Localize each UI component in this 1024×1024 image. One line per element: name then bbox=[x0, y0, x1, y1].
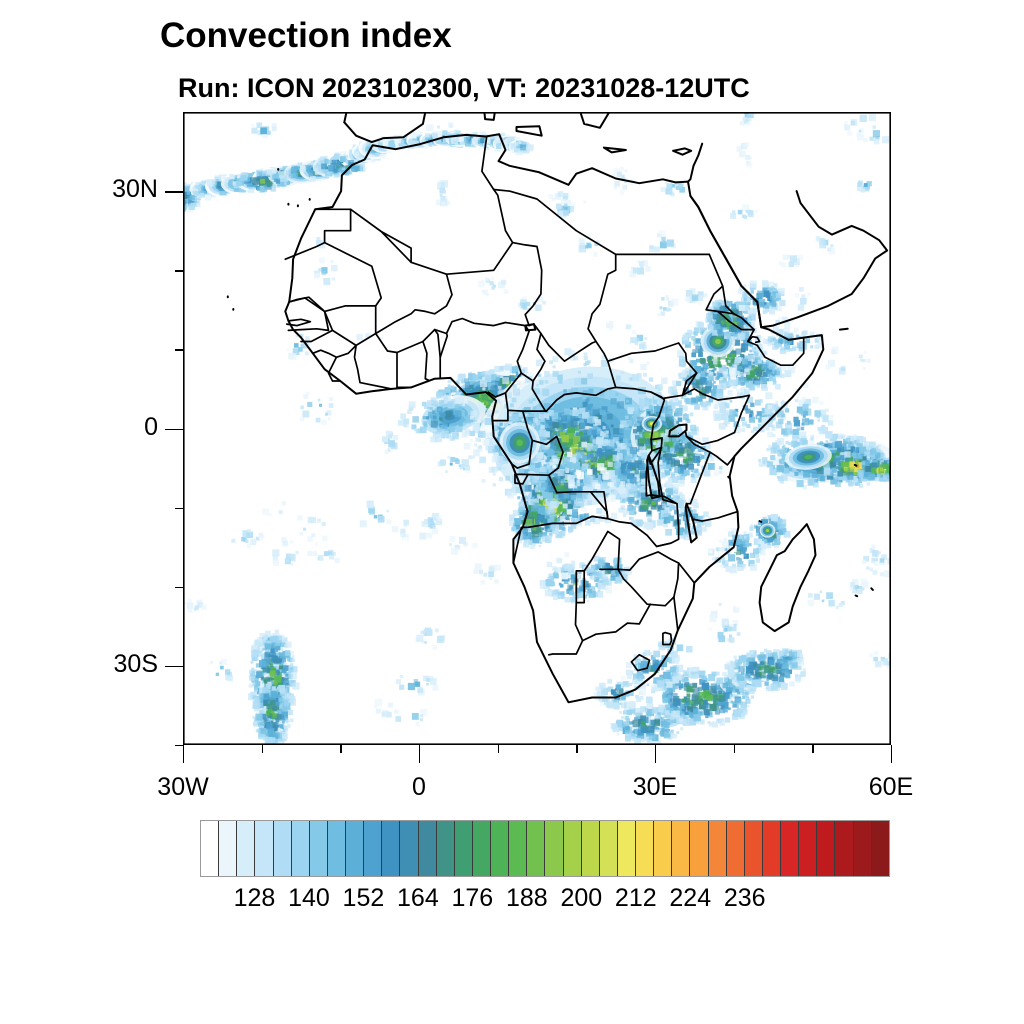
country-border bbox=[513, 243, 542, 334]
y-axis-label-30S: 30S bbox=[28, 650, 158, 679]
x-axis-label-60E: 60E bbox=[831, 773, 951, 802]
x-tick bbox=[655, 745, 656, 763]
country-border bbox=[435, 319, 526, 334]
country-border bbox=[355, 345, 392, 389]
colorbar-cell-36 bbox=[854, 821, 872, 876]
colorbar-cell-16 bbox=[491, 821, 509, 876]
colorbar-cell-26 bbox=[672, 821, 690, 876]
colorbar-cell-37 bbox=[872, 821, 889, 876]
coastline bbox=[604, 148, 626, 153]
map-canvas bbox=[183, 112, 891, 745]
colorbar-tick-200: 200 bbox=[560, 884, 602, 913]
y-tick bbox=[165, 429, 183, 430]
y-tick bbox=[175, 270, 183, 271]
x-axis-label-30E: 30E bbox=[595, 773, 715, 802]
colorbar-cell-22 bbox=[600, 821, 618, 876]
colorbar-tick-212: 212 bbox=[615, 884, 657, 913]
colorbar-cell-8 bbox=[346, 821, 364, 876]
colorbar-tick-236: 236 bbox=[724, 884, 766, 913]
colorbar-cell-4 bbox=[274, 821, 292, 876]
y-axis-label-0: 0 bbox=[28, 413, 158, 442]
country-border bbox=[397, 342, 428, 381]
colorbar-cell-30 bbox=[745, 821, 763, 876]
colorbar-cell-35 bbox=[835, 821, 853, 876]
colorbar bbox=[200, 820, 890, 877]
colorbar-cell-3 bbox=[255, 821, 273, 876]
colorbar-cell-1 bbox=[219, 821, 237, 876]
y-axis-label-30N: 30N bbox=[28, 175, 158, 204]
coastline bbox=[855, 465, 857, 466]
y-tick bbox=[175, 587, 183, 588]
coastline bbox=[728, 477, 730, 479]
colorbar-cell-25 bbox=[654, 821, 672, 876]
y-tick bbox=[175, 508, 183, 509]
colorbar-cell-9 bbox=[364, 821, 382, 876]
colorbar-tick-224: 224 bbox=[669, 884, 711, 913]
colorbar-cell-32 bbox=[781, 821, 799, 876]
run-valid-time-subtitle: Run: ICON 2023102300, VT: 20231028-12UTC bbox=[178, 73, 750, 104]
colorbar-cell-18 bbox=[527, 821, 545, 876]
x-axis-label-30W: 30W bbox=[123, 773, 243, 802]
x-tick bbox=[183, 745, 184, 763]
convection-field bbox=[183, 112, 891, 745]
coastline bbox=[760, 521, 762, 522]
x-tick bbox=[891, 745, 892, 763]
x-axis-label-0: 0 bbox=[359, 773, 479, 802]
colorbar-cell-5 bbox=[292, 821, 310, 876]
colorbar-cell-33 bbox=[799, 821, 817, 876]
colorbar-tick-188: 188 bbox=[506, 884, 548, 913]
x-tick bbox=[262, 745, 263, 753]
colorbar-tick-152: 152 bbox=[343, 884, 385, 913]
colorbar-cell-24 bbox=[636, 821, 654, 876]
colorbar-cell-11 bbox=[400, 821, 418, 876]
country-border bbox=[583, 604, 651, 640]
country-border bbox=[411, 137, 512, 275]
y-tick bbox=[165, 666, 183, 667]
coastline bbox=[673, 148, 691, 154]
colorbar-cell-15 bbox=[473, 821, 491, 876]
colorbar-tick-128: 128 bbox=[234, 884, 276, 913]
colorbar-cell-20 bbox=[564, 821, 582, 876]
colorbar-cell-7 bbox=[328, 821, 346, 876]
coastline bbox=[856, 596, 858, 597]
colorbar-cell-27 bbox=[690, 821, 708, 876]
colorbar-cell-23 bbox=[618, 821, 636, 876]
coastline bbox=[344, 112, 663, 128]
x-tick bbox=[734, 745, 735, 753]
colorbar-cell-28 bbox=[709, 821, 727, 876]
colorbar-cell-14 bbox=[455, 821, 473, 876]
coastline bbox=[517, 126, 542, 136]
colorbar-cell-19 bbox=[545, 821, 563, 876]
colorbar-cell-34 bbox=[817, 821, 835, 876]
country-border bbox=[494, 190, 616, 362]
colorbar-tick-140: 140 bbox=[288, 884, 330, 913]
colorbar-tick-labels: 128140152164176188200212224236 bbox=[200, 884, 890, 918]
country-border bbox=[351, 209, 412, 262]
country-border bbox=[325, 306, 376, 346]
country-border bbox=[313, 345, 356, 357]
y-tick bbox=[175, 745, 183, 746]
x-tick bbox=[340, 745, 341, 753]
x-tick bbox=[419, 745, 420, 763]
country-border bbox=[376, 334, 411, 388]
coastline bbox=[840, 329, 848, 330]
page-title: Convection index bbox=[160, 16, 452, 56]
y-tick bbox=[165, 191, 183, 192]
country-border bbox=[679, 563, 695, 583]
colorbar-cell-31 bbox=[763, 821, 781, 876]
map-plot-area bbox=[183, 112, 891, 745]
colorbar-cell-6 bbox=[310, 821, 328, 876]
convection-index-map-figure: Convection index Run: ICON 2023102300, V… bbox=[0, 0, 1024, 1024]
y-tick bbox=[175, 349, 183, 350]
colorbar-cell-10 bbox=[382, 821, 400, 876]
x-tick bbox=[812, 745, 813, 753]
country-border bbox=[440, 334, 447, 358]
colorbar-tick-164: 164 bbox=[397, 884, 439, 913]
x-tick bbox=[498, 745, 499, 753]
country-border bbox=[657, 543, 671, 546]
country-border bbox=[376, 274, 452, 333]
colorbar-cell-29 bbox=[727, 821, 745, 876]
colorbar-cell-17 bbox=[509, 821, 527, 876]
colorbar-cell-0 bbox=[201, 821, 219, 876]
colorbar-tick-176: 176 bbox=[452, 884, 494, 913]
coastline bbox=[871, 588, 873, 590]
x-tick bbox=[576, 745, 577, 753]
colorbar-cell-12 bbox=[419, 821, 437, 876]
colorbar-cell-2 bbox=[237, 821, 255, 876]
colorbar-cell-21 bbox=[582, 821, 600, 876]
colorbar-cell-13 bbox=[437, 821, 455, 876]
